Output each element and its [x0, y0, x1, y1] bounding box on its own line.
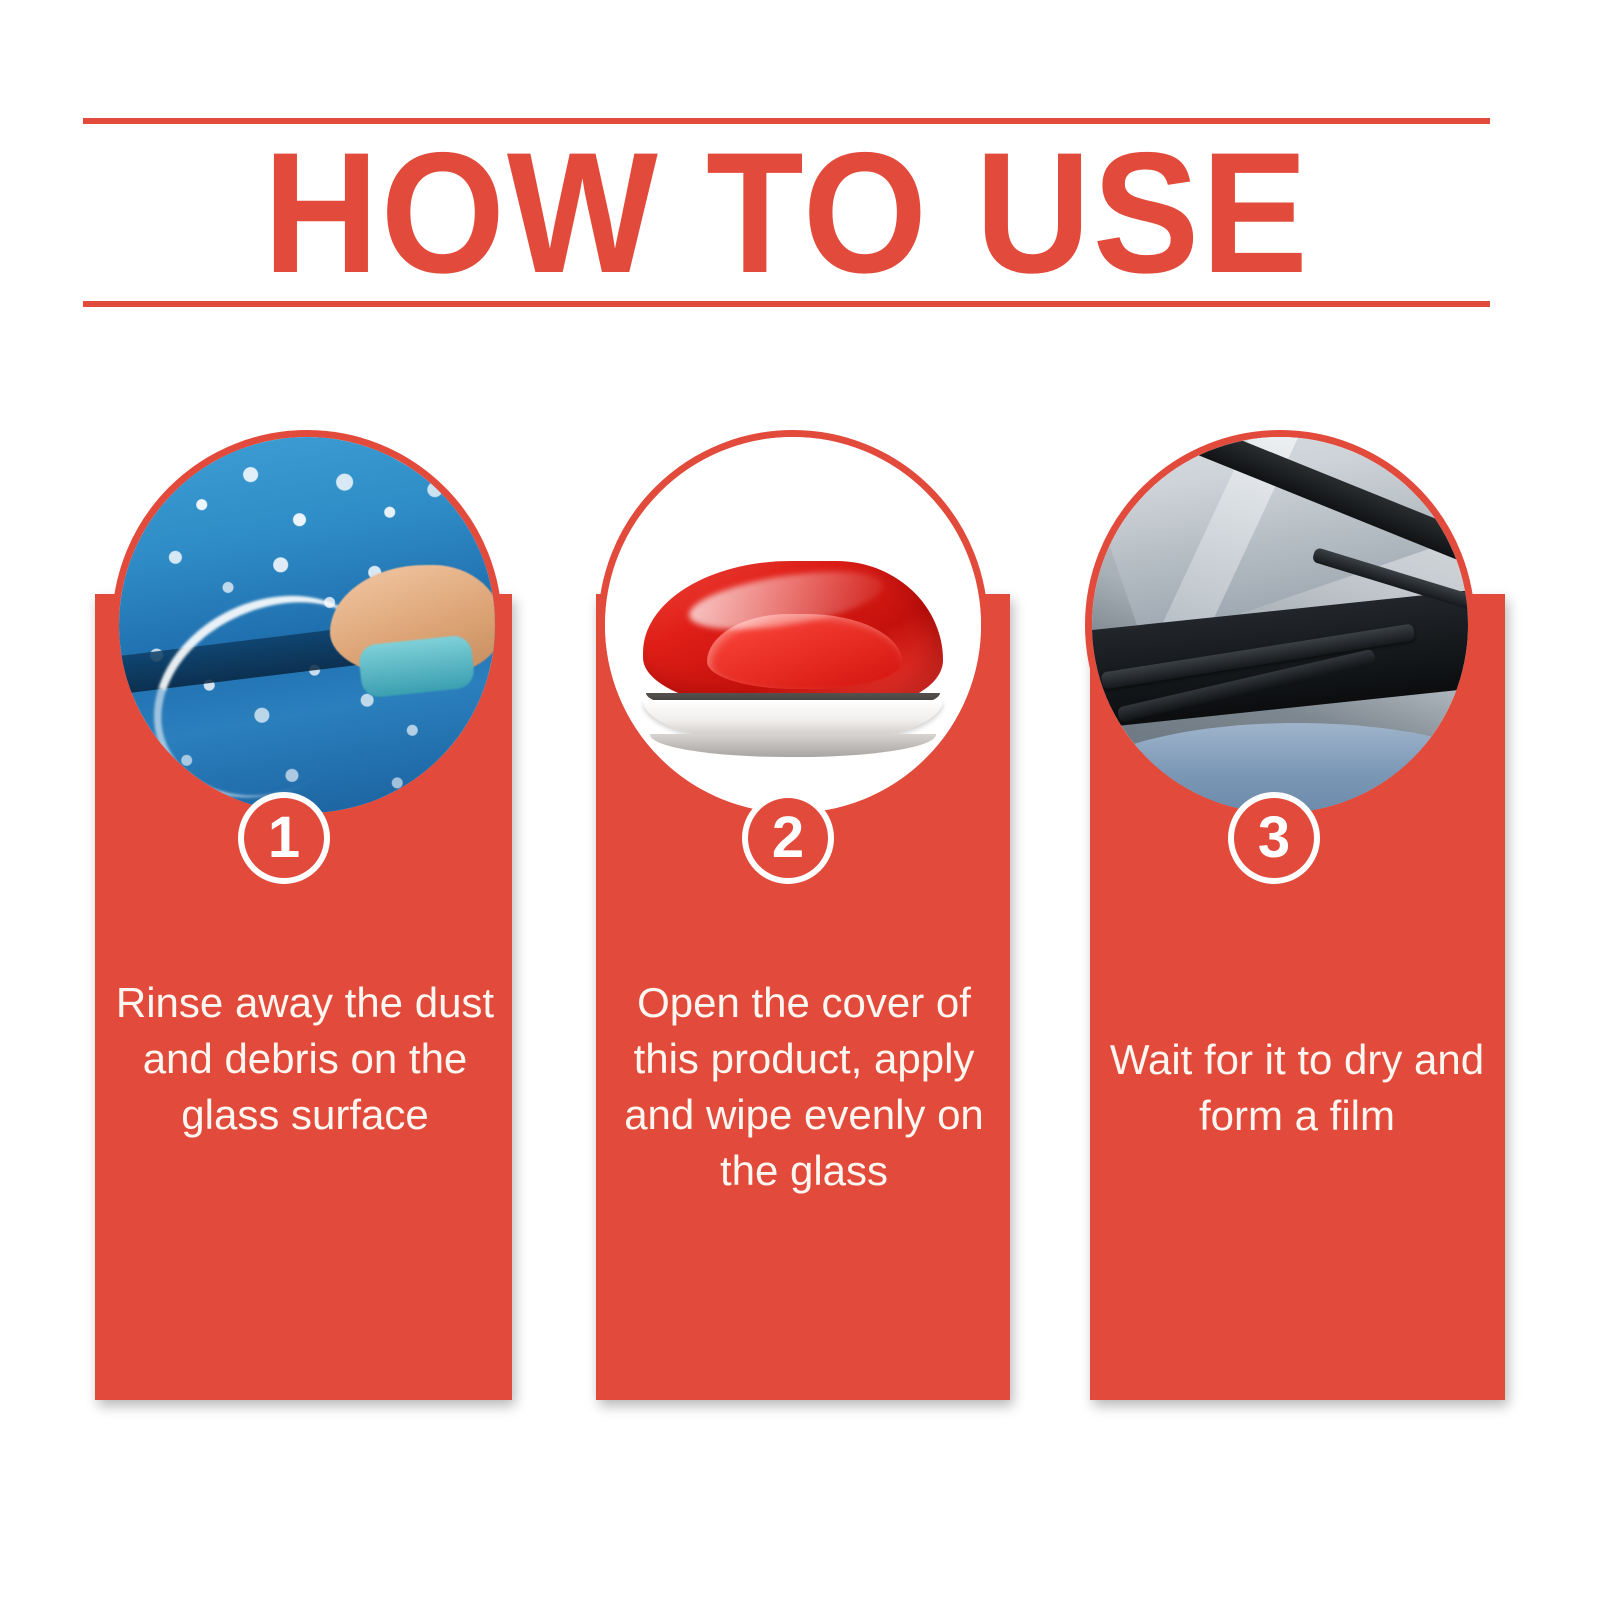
step-number-badge-3: 3 [1228, 792, 1320, 884]
step-caption-3: Wait for it to dry and form a film [1098, 1032, 1496, 1144]
step-image-1 [112, 430, 502, 820]
water-spraying-on-windshield-photo [119, 437, 495, 813]
step-number-badge-1: 1 [238, 792, 330, 884]
step-image-3 [1085, 430, 1475, 820]
infographic-page: HOW TO USE 1 Rinse away the dust and deb… [0, 0, 1600, 1600]
step-caption-1: Rinse away the dust and debris on the gl… [110, 975, 500, 1143]
step-number-badge-2: 2 [742, 792, 834, 884]
red-applicator-pad-product-photo [605, 437, 981, 813]
car-windshield-wipers-photo [1092, 437, 1468, 813]
step-caption-2: Open the cover of this product, apply an… [608, 975, 1000, 1199]
steps-container: 1 Rinse away the dust and debris on the … [0, 0, 1600, 1600]
step-image-2 [598, 430, 988, 820]
